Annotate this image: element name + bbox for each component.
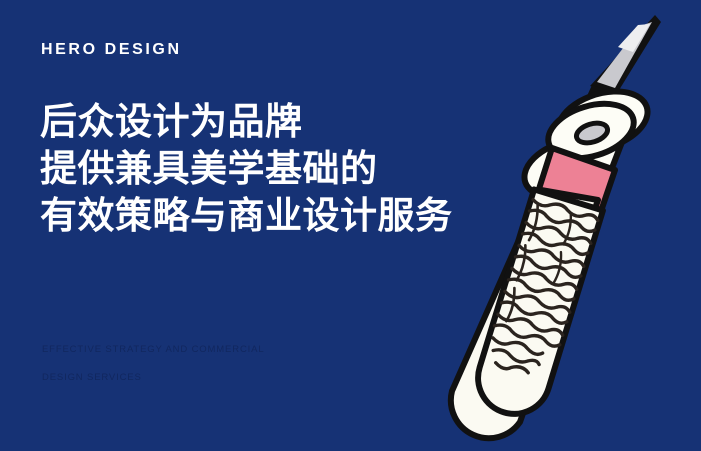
headline-line-2: 提供兼具美学基础的 [40, 145, 560, 192]
headline-line-3: 有效策略与商业设计服务 [40, 192, 560, 239]
headline-line-1: 后众设计为品牌 [40, 98, 560, 145]
knife-blade-icon [570, 15, 661, 142]
hero-banner: HERO DESIGN 后众设计为品牌 提供兼具美学基础的 有效策略与商业设计服… [0, 0, 701, 451]
subtitle-line-1: EFFECTIVE STRATEGY AND COMMERCIAL [42, 336, 372, 364]
subtitle-line-2: DESIGN SERVICES [42, 364, 372, 392]
subtitle-block: EFFECTIVE STRATEGY AND COMMERCIAL DESIGN… [42, 336, 372, 392]
brand-eyebrow: HERO DESIGN [41, 41, 182, 59]
headline-block: 后众设计为品牌 提供兼具美学基础的 有效策略与商业设计服务 [40, 98, 560, 239]
